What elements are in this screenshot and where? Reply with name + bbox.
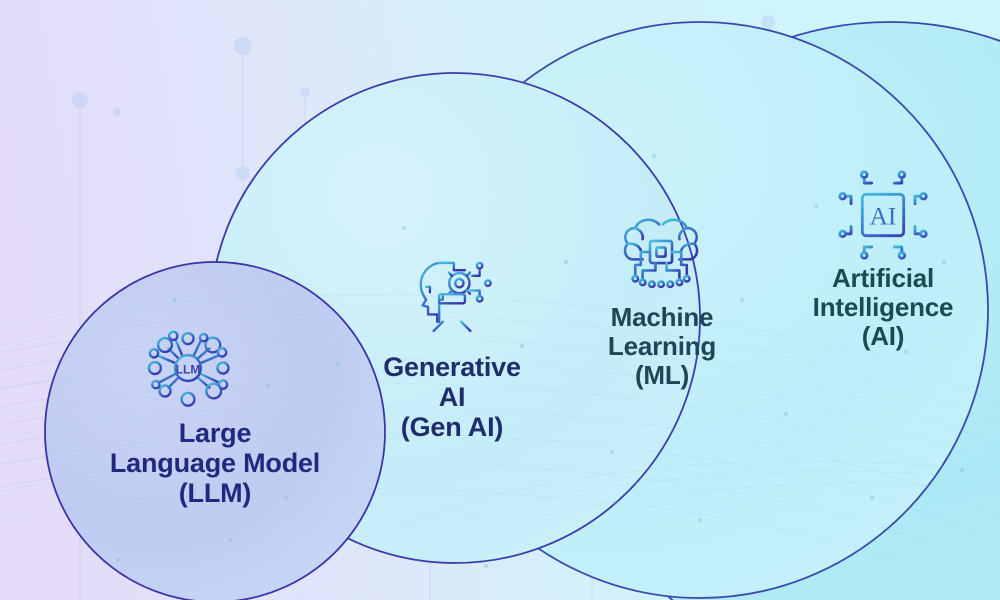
ai-head-gear-icon [406, 250, 498, 342]
label-artificial-intelligence: Artificial Intelligence (AI) [768, 264, 998, 351]
llm-network-icon: LLM [142, 322, 234, 414]
brain-chip-icon [615, 206, 707, 298]
ai-chip-icon-text: AI [870, 202, 897, 230]
llm-network-icon-text: LLM [176, 363, 201, 377]
label-large-language-model: Large Language Model (LLM) [50, 418, 380, 509]
infographic-canvas: AI Artificial Intelligence (AI) [0, 0, 1000, 600]
ai-chip-icon: AI [836, 168, 930, 262]
